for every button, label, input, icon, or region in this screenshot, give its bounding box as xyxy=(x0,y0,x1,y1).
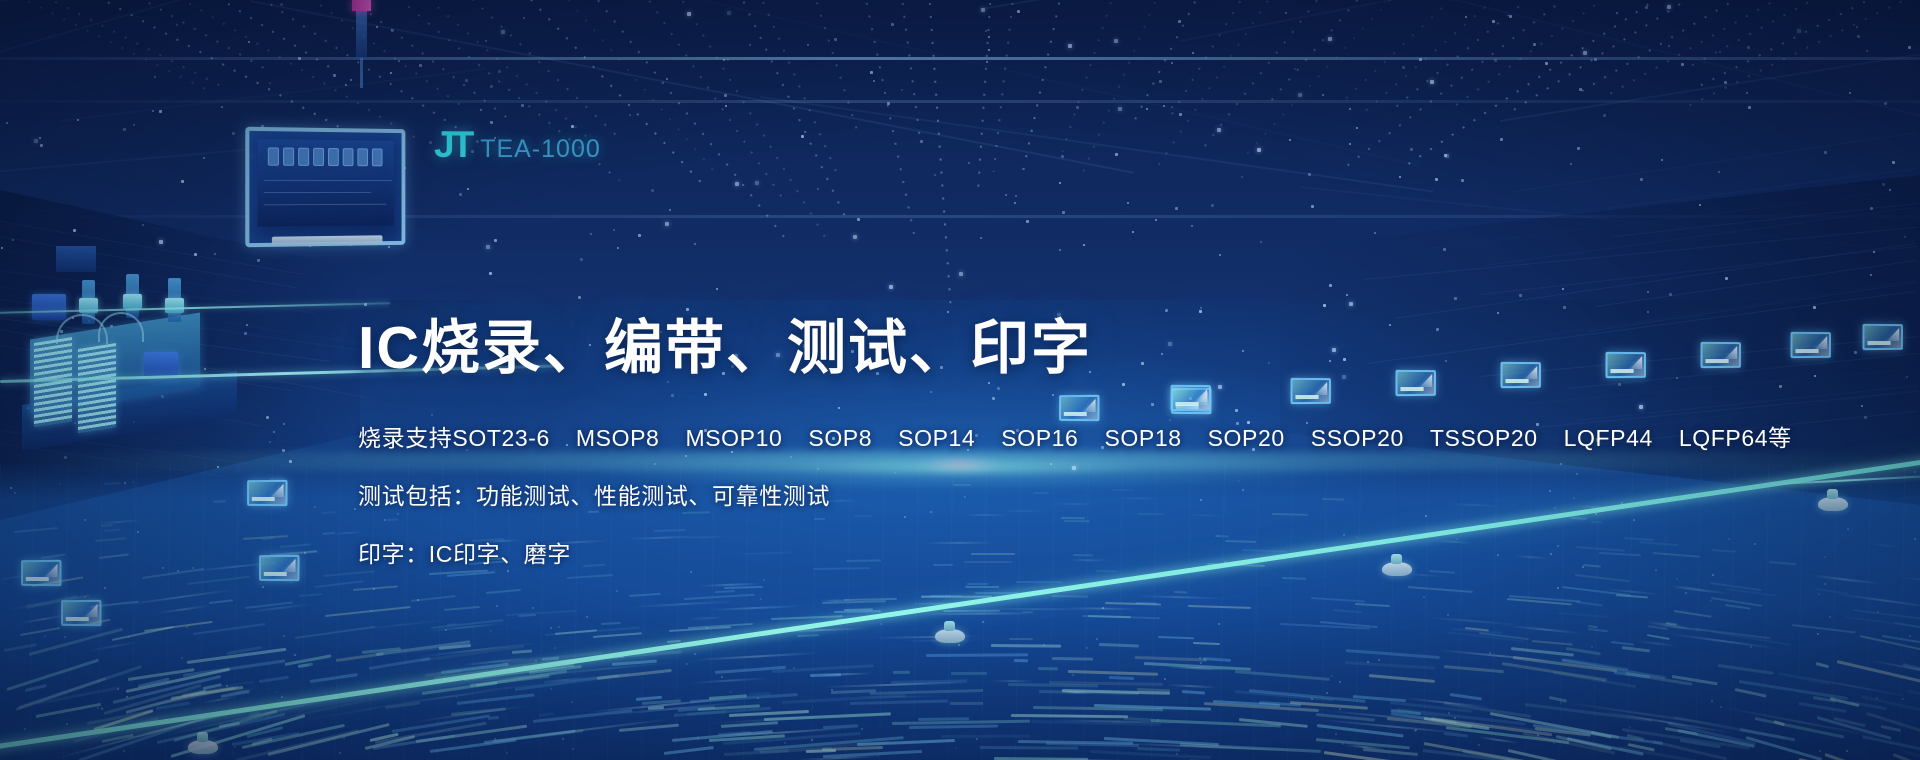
package-item: SOP16 xyxy=(1001,425,1078,452)
package-item: SOP8 xyxy=(808,425,872,452)
package-item: TSSOP20 xyxy=(1430,425,1538,452)
package-item: SOP14 xyxy=(898,425,975,452)
package-item: LQFP44 xyxy=(1564,425,1653,452)
page-title: IC烧录、编带、测试、印字 xyxy=(358,318,1678,378)
testing-line: 测试包括：功能测试、性能测试、可靠性测试 xyxy=(358,477,1678,511)
banner-subtext: 烧录支持SOT23-6 MSOP8 MSOP10 SOP8 SOP14 SOP1… xyxy=(358,419,1678,569)
package-item: MSOP8 xyxy=(576,425,660,452)
marking-line: 印字：IC印字、磨字 xyxy=(358,535,1678,569)
banner-copy: IC烧录、编带、测试、印字 烧录支持SOT23-6 MSOP8 MSOP10 S… xyxy=(358,318,1678,569)
package-list: 烧录支持SOT23-6 MSOP8 MSOP10 SOP8 SOP14 SOP1… xyxy=(358,419,1792,453)
package-item: LQFP64等 xyxy=(1679,419,1792,453)
package-item: MSOP10 xyxy=(685,425,782,452)
package-item: SOP20 xyxy=(1208,425,1285,452)
package-item: SSOP20 xyxy=(1311,425,1404,452)
hero-banner: JT TEA-1000 IC烧录、编带、测试、印字 烧录支持SOT23-6 MS… xyxy=(0,0,1920,760)
package-support-line: 烧录支持SOT23-6 MSOP8 MSOP10 SOP8 SOP14 SOP1… xyxy=(358,419,1678,453)
package-lead: 烧录支持SOT23-6 xyxy=(358,419,550,453)
package-item: SOP18 xyxy=(1104,425,1181,452)
